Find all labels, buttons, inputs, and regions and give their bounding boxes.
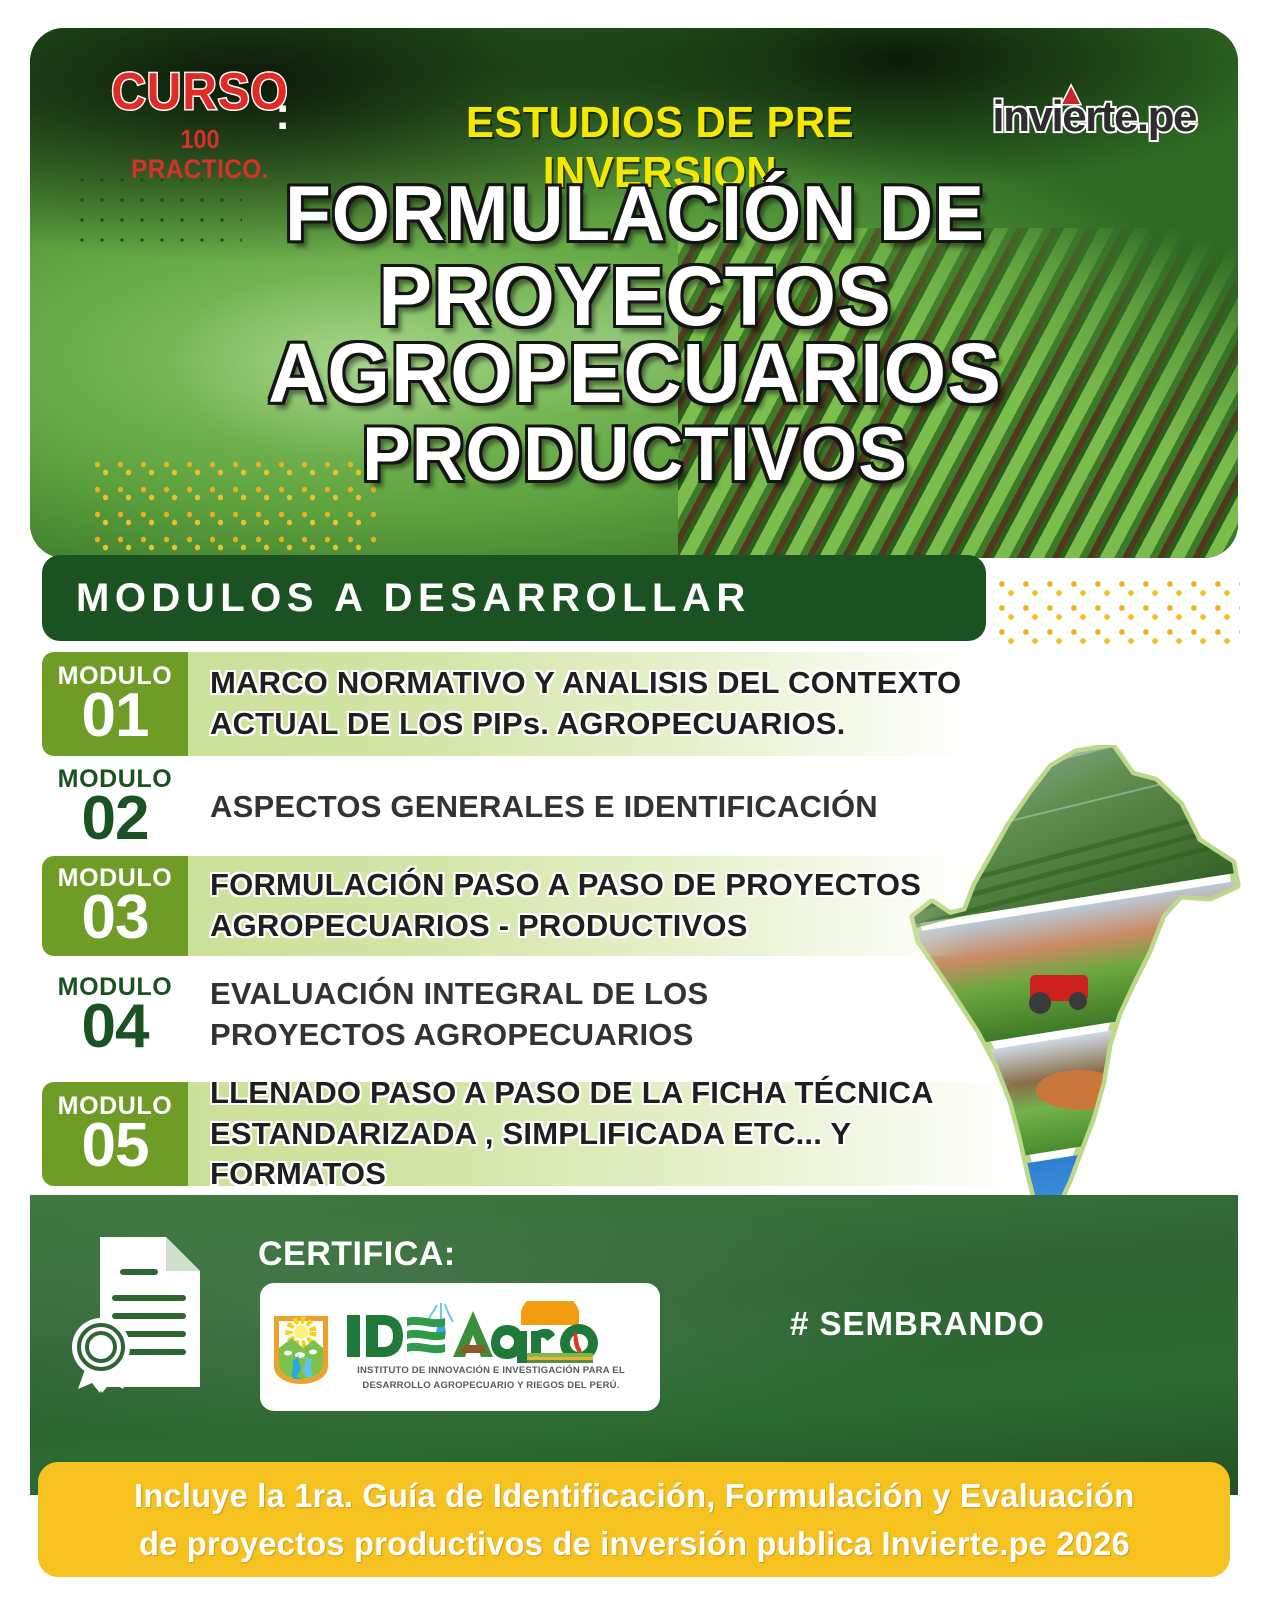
hero-section: CURSO 100 PRACTICO. : ESTUDIOS DE PRE IN… bbox=[30, 28, 1238, 558]
module-number-03: 03 bbox=[82, 889, 149, 948]
certification-section: CERTIFICA: bbox=[30, 1195, 1238, 1495]
module-body-02: ASPECTOS GENERALES E IDENTIFICACIÓN bbox=[188, 758, 972, 856]
footer-banner: Incluye la 1ra. Guía de Identificación, … bbox=[38, 1462, 1230, 1577]
ideagro-wordmark-group: INSTITUTO DE INNOVACIÓN E INVESTIGACIÓN … bbox=[332, 1301, 650, 1393]
module-number-05: 05 bbox=[82, 1117, 149, 1176]
module-body-03: FORMULACIÓN PASO A PASO DE PROYECTOS AGR… bbox=[188, 856, 972, 956]
yellow-dot-pattern-right bbox=[990, 572, 1240, 644]
flyer-root: CURSO 100 PRACTICO. : ESTUDIOS DE PRE IN… bbox=[0, 0, 1268, 1600]
hashtag-sembrando: # SEMBRANDO bbox=[790, 1305, 1045, 1343]
footer-line-1: Incluye la 1ra. Guía de Identificación, … bbox=[134, 1472, 1134, 1520]
title-line-2: PROYECTOS AGROPECUARIOS bbox=[112, 258, 1158, 413]
page-title: FORMULACIÓN DE PROYECTOS AGROPECUARIOS P… bbox=[90, 178, 1180, 490]
module-text-line: ESTANDARIZADA , SIMPLIFICADA ETC... Y FO… bbox=[210, 1114, 1022, 1196]
ideagro-tagline-line1: INSTITUTO DE INNOVACIÓN E INVESTIGACIÓN … bbox=[357, 1365, 625, 1378]
module-badge-02: MODULO 02 bbox=[42, 758, 188, 856]
module-row-03[interactable]: MODULO 03 FORMULACIÓN PASO A PASO DE PRO… bbox=[42, 856, 972, 956]
module-badge-03: MODULO 03 bbox=[42, 856, 188, 956]
module-badge-01: MODULO 01 bbox=[42, 652, 188, 756]
module-body-04: EVALUACIÓN INTEGRAL DE LOS PROYECTOS AGR… bbox=[188, 960, 972, 1070]
module-row-05[interactable]: MODULO 05 LLENADO PASO A PASO DE LA FICH… bbox=[42, 1082, 1022, 1186]
title-line-3: PRODUCTIVOS bbox=[112, 420, 1158, 490]
title-line-1: FORMULACIÓN DE bbox=[112, 178, 1158, 250]
module-text-line: ASPECTOS GENERALES E IDENTIFICACIÓN bbox=[210, 787, 972, 828]
module-number-04: 04 bbox=[82, 998, 149, 1057]
module-text-line: AGROPECUARIOS - PRODUCTIVOS bbox=[210, 906, 972, 947]
footer-line-2: de proyectos productivos de inversión pu… bbox=[139, 1520, 1130, 1568]
ideagro-logo-card: INSTITUTO DE INNOVACIÓN E INVESTIGACIÓN … bbox=[260, 1283, 660, 1411]
module-number-01: 01 bbox=[82, 687, 149, 746]
module-text-line: PROYECTOS AGROPECUARIOS bbox=[210, 1015, 972, 1056]
colon-separator: : bbox=[275, 86, 290, 140]
module-body-05: LLENADO PASO A PASO DE LA FICHA TÉCNICA … bbox=[188, 1082, 1022, 1186]
modules-banner: MODULOS A DESARROLLAR bbox=[42, 555, 986, 641]
module-text-line: EVALUACIÓN INTEGRAL DE LOS bbox=[210, 974, 972, 1015]
module-text-line: MARCO NORMATIVO Y ANALISIS DEL CONTEXTO bbox=[210, 663, 972, 704]
module-row-02[interactable]: MODULO 02 ASPECTOS GENERALES E IDENTIFIC… bbox=[42, 758, 972, 856]
module-row-04[interactable]: MODULO 04 EVALUACIÓN INTEGRAL DE LOS PRO… bbox=[42, 960, 972, 1070]
modules-banner-label: MODULOS A DESARROLLAR bbox=[76, 576, 751, 621]
module-text-line: LLENADO PASO A PASO DE LA FICHA TÉCNICA bbox=[210, 1073, 1022, 1114]
certifica-label: CERTIFICA: bbox=[258, 1235, 456, 1274]
invierte-pe-logo: invierte.pe bbox=[992, 92, 1196, 142]
curso-block: CURSO 100 PRACTICO. bbox=[70, 62, 330, 183]
certificate-icon bbox=[68, 1229, 218, 1394]
ideagro-tagline-line2: DESARROLLO AGROPECUARIO Y RIEGOS DEL PER… bbox=[362, 1380, 619, 1393]
module-text-line: ACTUAL DE LOS PIPs. AGROPECUARIOS. bbox=[210, 704, 972, 745]
module-number-02: 02 bbox=[82, 790, 149, 849]
module-badge-04: MODULO 04 bbox=[42, 960, 188, 1070]
module-badge-05: MODULO 05 bbox=[42, 1082, 188, 1186]
module-body-01: MARCO NORMATIVO Y ANALISIS DEL CONTEXTO … bbox=[188, 652, 972, 756]
module-text-line: FORMULACIÓN PASO A PASO DE PROYECTOS bbox=[210, 865, 972, 906]
module-row-01[interactable]: MODULO 01 MARCO NORMATIVO Y ANALISIS DEL… bbox=[42, 652, 972, 756]
ideagro-shield-icon bbox=[270, 1308, 332, 1386]
ideagro-wordmark bbox=[341, 1301, 641, 1363]
